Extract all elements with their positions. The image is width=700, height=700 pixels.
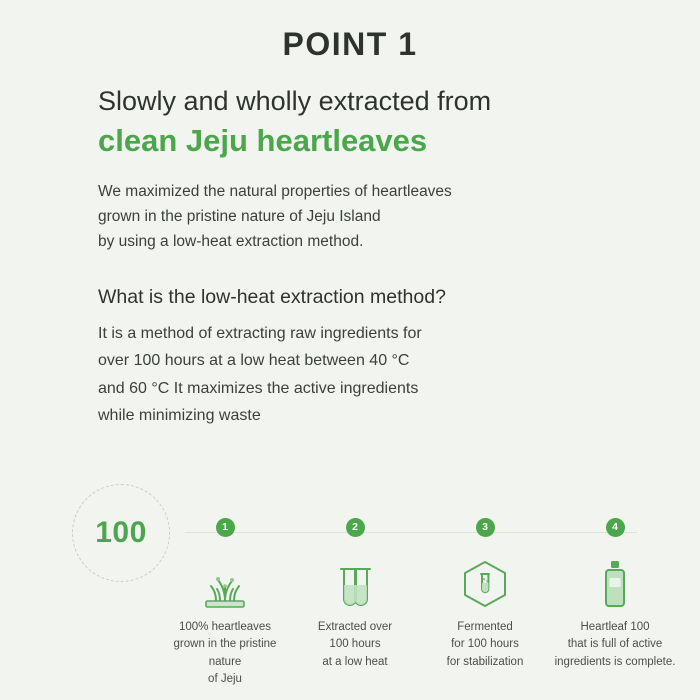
bottle-icon [586, 551, 644, 609]
process-steps: 1 [160, 518, 680, 688]
headline-line-2: clean Jeju heartleaves [98, 121, 700, 161]
headline-line-1: Slowly and wholly extracted from [98, 85, 700, 119]
step-caption: Heartleaf 100 that is full of active ing… [555, 619, 676, 671]
intro-paragraph: We maximized the natural properties of h… [0, 161, 700, 254]
badge-100: 100 [72, 484, 170, 582]
grass-sprout-icon [196, 551, 254, 609]
answer-paragraph: It is a method of extracting raw ingredi… [0, 312, 700, 430]
page-title: POINT 1 [0, 0, 700, 63]
step-caption: Extracted over 100 hours at a low heat [318, 619, 392, 671]
step-number-badge: 3 [476, 518, 495, 537]
step-caption: Fermented for 100 hours for stabilizatio… [447, 619, 524, 671]
step-number-badge: 2 [346, 518, 365, 537]
badge-100-label: 100 [95, 516, 147, 550]
test-tubes-icon [326, 551, 384, 609]
question-heading: What is the low-heat extraction method? [0, 254, 700, 311]
step-number-badge: 1 [216, 518, 235, 537]
process-step-3: 3 Fermented fo [420, 518, 550, 688]
step-number-badge: 4 [606, 518, 625, 537]
process-step-4: 4 Heartleaf 100 that is full of active i… [550, 518, 680, 688]
fermentation-flask-icon [456, 551, 514, 609]
process-diagram: 100 1 [0, 478, 700, 700]
headline-block: Slowly and wholly extracted from clean J… [0, 63, 700, 161]
process-step-1: 1 [160, 518, 290, 688]
point-1-page: POINT 1 Slowly and wholly extracted from… [0, 0, 700, 700]
step-caption: 100% heartleaves grown in the pristine n… [160, 619, 290, 688]
process-step-2: 2 Extracted over 100 hours at a low heat [290, 518, 420, 688]
